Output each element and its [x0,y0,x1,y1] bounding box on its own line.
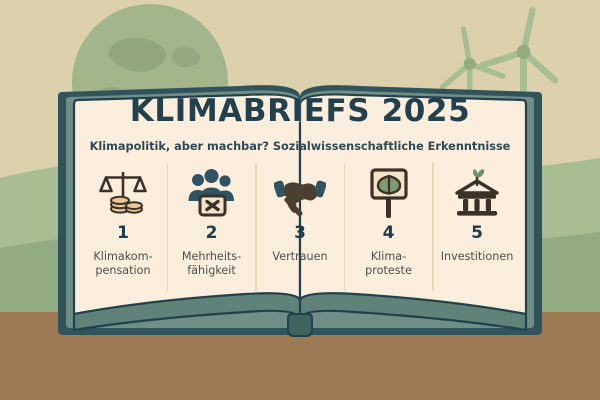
brief-item-label: Klimakom- pensation [93,250,152,278]
protest-sign-leaf-icon [364,167,414,219]
brief-item-number: 4 [383,225,395,242]
page-subtitle: Klimapolitik, aber machbar? Sozialwissen… [90,140,511,153]
brief-item-mehrheitsfaehigkeit[interactable]: 2 Mehrheits- fähigkeit [169,167,255,278]
brief-item-label: Mehrheits- fähigkeit [182,250,241,278]
page-content: KLIMABRIEFS 2025 Klimapolitik, aber mach… [78,88,522,318]
brief-item-number: 5 [471,225,483,242]
brief-items-row: 1 Klimakom- pensation [80,167,520,278]
coin-stack [111,197,142,213]
scales-with-coins-icon [98,167,148,219]
brief-item-label: Vertrauen [272,250,327,264]
brief-item-number: 3 [294,225,306,242]
poster-scene: KLIMABRIEFS 2025 Klimapolitik, aber mach… [0,0,600,400]
handshake-icon [274,167,326,219]
sprout-icon [473,169,484,178]
brief-item-klimakompensation[interactable]: 1 Klimakom- pensation [80,167,166,278]
brief-item-number: 1 [117,225,129,242]
brief-item-number: 2 [206,225,218,242]
brief-item-label: Investitionen [441,250,514,264]
brief-item-investitionen[interactable]: 5 Investitionen [434,167,520,264]
brief-item-label: Klima- proteste [365,250,412,278]
page-title: KLIMABRIEFS 2025 [130,96,471,127]
table-surface [0,312,600,400]
leaf-icon [378,176,400,194]
brief-item-vertrauen[interactable]: 3 Vertrauen [257,167,343,264]
brief-item-klimaproteste[interactable]: 4 Klima- proteste [346,167,432,278]
people-ballot-box-icon [187,167,237,219]
bank-with-sprout-icon [451,167,503,219]
